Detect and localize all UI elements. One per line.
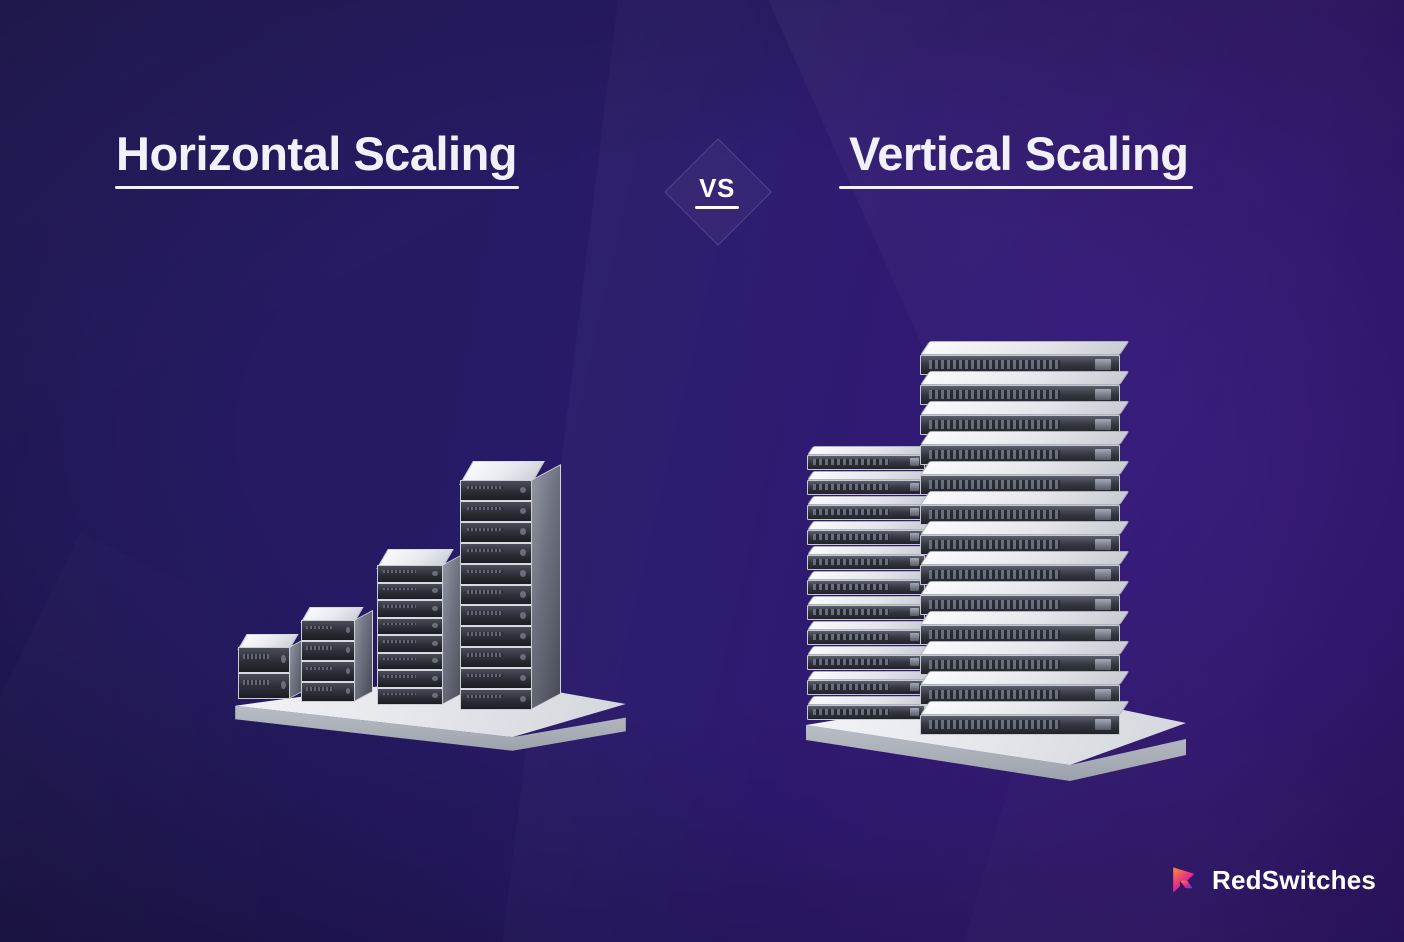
server-unit-top	[807, 671, 931, 680]
rack-4-side	[531, 464, 561, 710]
page-title-horizontal-scaling: Horizontal Scaling	[116, 130, 517, 177]
title-right-text: Vertical Scaling	[849, 127, 1188, 180]
versus-badge: VS	[664, 138, 770, 244]
server-unit	[920, 401, 1120, 435]
redswitches-logo[interactable]: RedSwitches	[1168, 864, 1376, 896]
server-unit-front	[807, 455, 925, 470]
versus-label: VS	[664, 138, 770, 244]
rack-bay	[461, 648, 531, 669]
rack-bay	[378, 636, 442, 654]
rack-bay	[461, 669, 531, 690]
page-title-vertical-scaling: Vertical Scaling	[849, 130, 1188, 177]
server-unit-top	[807, 696, 931, 705]
rack-bay	[302, 662, 354, 683]
rack-bay	[461, 606, 531, 627]
server-unit-front	[807, 680, 925, 695]
rack-2-front	[301, 620, 355, 702]
server-unit-top	[920, 461, 1129, 475]
server-unit	[807, 471, 925, 495]
server-unit	[920, 611, 1120, 645]
server-unit	[807, 696, 925, 720]
rack-1-front	[238, 647, 290, 699]
server-unit	[807, 521, 925, 545]
rack-bay	[461, 502, 531, 523]
rack-bay	[461, 690, 531, 709]
server-unit	[920, 491, 1120, 525]
server-unit-top	[920, 671, 1129, 685]
server-rack-4	[460, 480, 532, 710]
server-unit	[920, 551, 1120, 585]
server-unit-top	[807, 521, 931, 530]
server-unit	[807, 671, 925, 695]
server-unit-front	[807, 630, 925, 645]
server-unit-top	[920, 521, 1129, 535]
rack-bay	[461, 586, 531, 607]
server-unit	[920, 521, 1120, 555]
server-unit	[920, 431, 1120, 465]
server-unit-top	[807, 471, 931, 480]
rack-bay	[461, 627, 531, 648]
server-unit-front	[807, 555, 925, 570]
server-unit-front	[807, 530, 925, 545]
rack-bay	[302, 683, 354, 702]
server-unit-top	[920, 431, 1129, 445]
server-unit-top	[807, 621, 931, 630]
rack-bay	[302, 621, 354, 642]
server-unit	[920, 671, 1120, 705]
server-unit	[920, 371, 1120, 405]
server-unit-top	[920, 491, 1129, 505]
server-unit	[920, 341, 1120, 375]
server-unit-top	[920, 551, 1129, 565]
rack-bay	[302, 642, 354, 663]
server-unit-top	[920, 581, 1129, 595]
server-unit	[920, 581, 1120, 615]
server-rack-3	[377, 565, 443, 705]
horizontal-scaling-illustration	[205, 455, 635, 765]
title-left-text: Horizontal Scaling	[116, 127, 517, 180]
server-unit-top	[920, 341, 1129, 355]
server-unit-top	[920, 701, 1129, 715]
server-unit-top	[807, 496, 931, 505]
server-unit	[807, 621, 925, 645]
server-unit	[920, 641, 1120, 675]
redswitches-wordmark: RedSwitches	[1212, 865, 1376, 896]
server-unit-front	[807, 605, 925, 620]
rack-bay	[461, 523, 531, 544]
server-unit-top	[807, 646, 931, 655]
title-left-underline	[115, 186, 519, 189]
rack-bay	[239, 674, 289, 698]
rack-bay	[461, 565, 531, 586]
infographic-canvas: Horizontal Scaling Vertical Scaling VS	[0, 0, 1404, 942]
server-unit-top	[920, 371, 1129, 385]
server-stack-tall	[920, 335, 1135, 735]
server-unit-front	[807, 480, 925, 495]
redswitches-arrow-icon	[1168, 864, 1200, 896]
server-unit	[807, 496, 925, 520]
vertical-scaling-illustration	[785, 325, 1205, 785]
server-unit-front	[807, 505, 925, 520]
server-unit-top	[920, 401, 1129, 415]
rack-4-front	[460, 480, 532, 710]
rack-bay	[378, 689, 442, 705]
server-unit-front	[920, 715, 1120, 735]
server-unit-front	[807, 705, 925, 720]
server-unit-top	[920, 641, 1129, 655]
rack-bay	[378, 584, 442, 602]
server-unit	[920, 461, 1120, 495]
server-rack-2	[301, 620, 355, 702]
rack-bay	[378, 671, 442, 689]
server-unit-top	[807, 446, 931, 455]
versus-underline	[695, 206, 739, 209]
server-unit-top	[920, 611, 1129, 625]
server-unit-top	[807, 571, 931, 580]
server-rack-1	[238, 647, 290, 699]
server-unit	[920, 701, 1120, 735]
server-unit	[807, 571, 925, 595]
rack-bay	[378, 654, 442, 672]
rack-2-side	[354, 610, 373, 702]
rack-bay	[378, 619, 442, 637]
server-stack-thin	[807, 430, 937, 720]
server-unit-top	[807, 596, 931, 605]
rack-bay	[461, 544, 531, 565]
server-unit	[807, 446, 925, 470]
title-right-underline	[839, 186, 1193, 189]
server-unit-top	[807, 546, 931, 555]
rack-3-front	[377, 565, 443, 705]
server-unit-front	[807, 580, 925, 595]
rack-bay	[461, 481, 531, 502]
rack-bay	[378, 566, 442, 584]
server-unit	[807, 596, 925, 620]
server-unit-front	[807, 655, 925, 670]
server-unit	[807, 546, 925, 570]
rack-bay	[239, 648, 289, 674]
rack-bay	[378, 601, 442, 619]
server-unit	[807, 646, 925, 670]
